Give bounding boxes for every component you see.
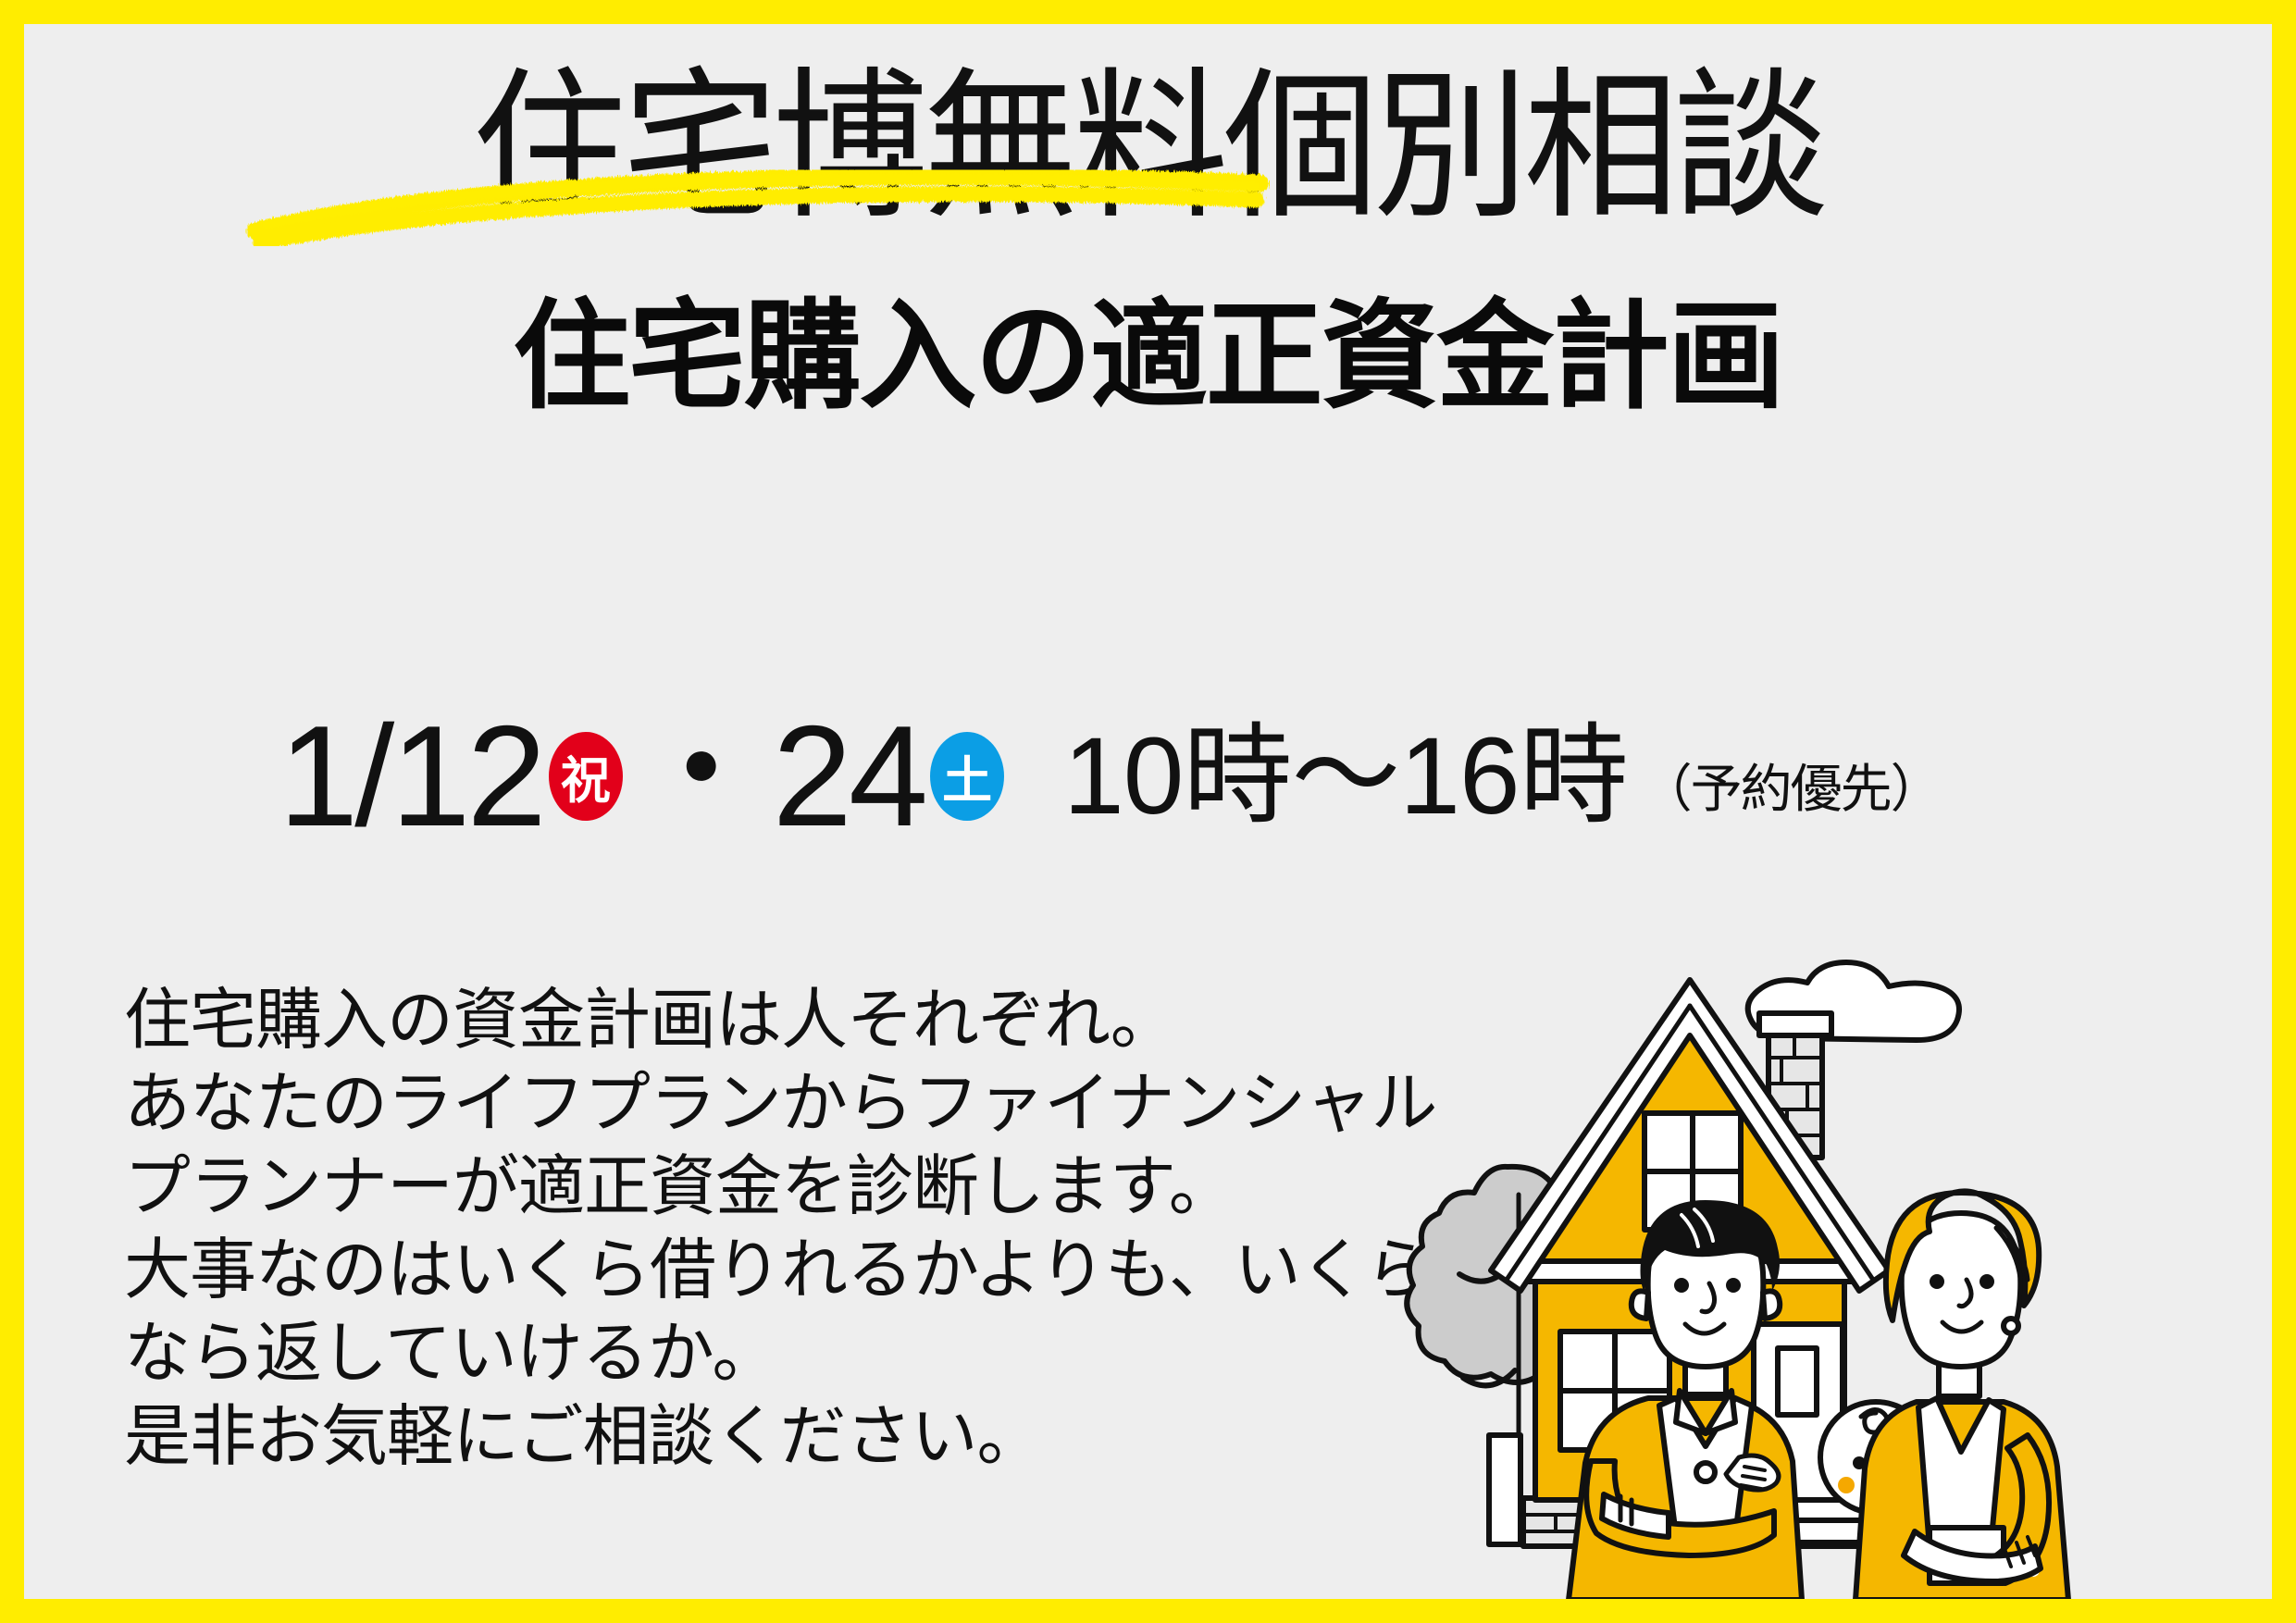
flyer-canvas: 住宅博無料個別相談 住宅購入の適正資金計画 1/12 祝 ・ 24 土 10時〜… [24,24,2272,1599]
body-text-block: 住宅購入の資金計画は人それぞれ。 あなたのライフプランからファイナンシャル プラ… [124,979,1438,1479]
family-house-illustration [1371,917,2272,1599]
body-line: あなたのライフプランからファイナンシャル [124,1062,1438,1146]
main-title-area: 住宅博無料個別相談 [24,67,2272,266]
date-separator: ・ [632,701,771,840]
body-line: プランナーが適正資金を診断します。 [124,1146,1438,1229]
event-time: 10時〜16時 [1063,722,1628,831]
reservation-note: （予約優先） [1641,763,1941,815]
holiday-badge: 祝 [549,732,623,821]
mother-figure [1855,1191,2068,1599]
date-first: 1/12 [279,704,543,848]
body-line: 大事なのはいくら借りれるかよりも、いくら [124,1229,1438,1312]
saturday-badge: 土 [930,732,1004,821]
schedule-row: 1/12 祝 ・ 24 土 10時〜16時 （予約優先） [279,704,1941,848]
body-line: なら返していけるか。 [124,1312,1438,1395]
subtitle-area: 住宅購入の適正資金計画 [24,298,2272,427]
body-line: 是非お気軽にご相談ください。 [124,1395,1438,1479]
subtitle: 住宅購入の適正資金計画 [35,298,2261,416]
date-second: 24 [773,704,925,848]
body-line: 住宅購入の資金計画は人それぞれ。 [124,979,1438,1062]
main-title: 住宅博無料個別相談 [69,67,2228,229]
